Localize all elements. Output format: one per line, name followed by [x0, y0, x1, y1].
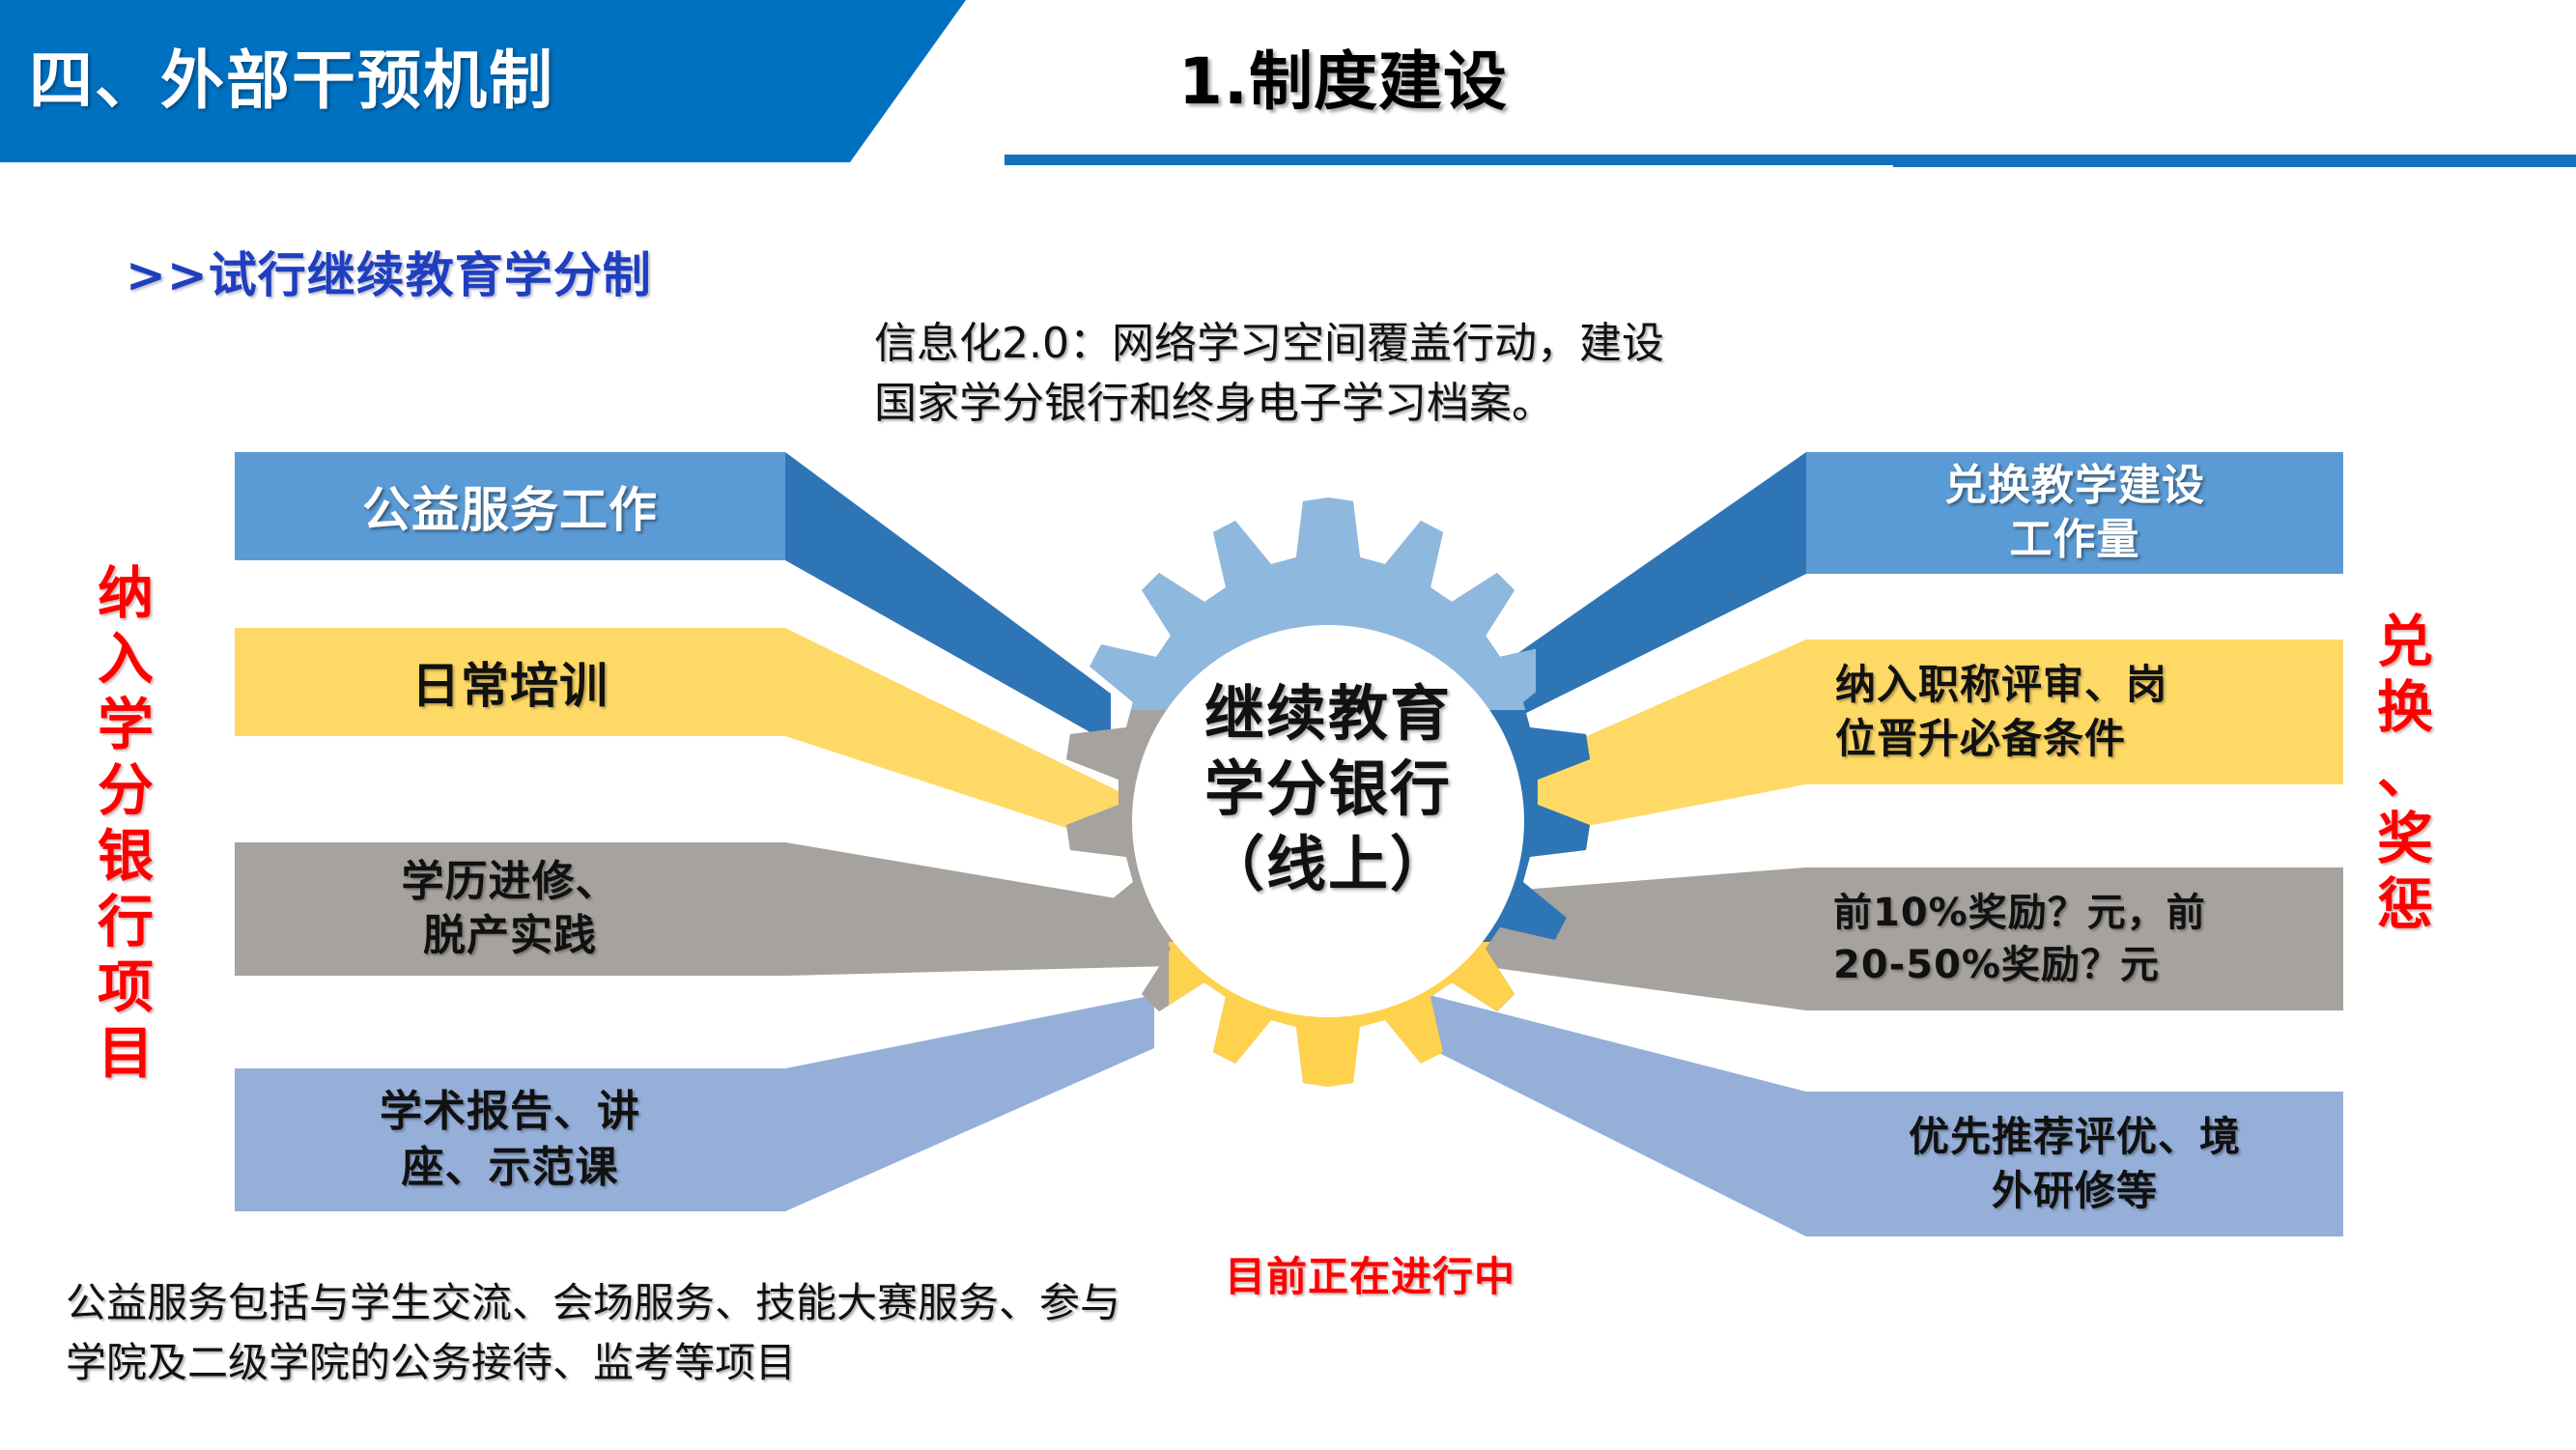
vertical-label-char-4: 银	[89, 823, 162, 889]
section-subtitle: >>试行继续教育学分制	[126, 237, 652, 306]
right-bar-priority-recommend[interactable]: 优先推荐评优、境 外研修等	[1806, 1092, 2343, 1237]
right-bar-teaching-workload[interactable]: 兑换教学建设 工作量	[1806, 452, 2343, 574]
header-underline-extension	[1893, 158, 2576, 167]
left-bar-label-4: 学术报告、讲 座、示范课	[235, 1084, 785, 1196]
page-title: 四、外部干预机制	[29, 33, 898, 129]
right-bar-cash-reward[interactable]: 前10%奖励？元，前 20-50%奖励？元	[1806, 867, 2343, 1010]
vertical-label-char-4: 惩	[2368, 871, 2442, 937]
vertical-label-char-7: 目	[89, 1020, 162, 1086]
right-bar-label-2: 纳入职称评审、岗 位晋升必备条件	[1835, 658, 2343, 766]
page-subtitle: 1.制度建设	[1178, 29, 2337, 135]
vertical-label-char-2: 、	[2368, 740, 2442, 806]
left-bar-label-2: 日常培训	[235, 647, 785, 717]
left-bar-label-1: 公益服务工作	[235, 471, 785, 541]
status-badge: 目前正在进行中	[1225, 1244, 1515, 1303]
gear-center-label: 继续教育 学分银行 （线上）	[1135, 676, 1521, 902]
right-bar-label-3: 前10%奖励？元，前 20-50%奖励？元	[1833, 887, 2343, 991]
right-bar-label-4: 优先推荐评优、境 外研修等	[1806, 1110, 2343, 1218]
slide-canvas: 四、外部干预机制 1.制度建设 >>试行继续教育学分制 信息化2.0：网络学习空…	[0, 0, 2576, 1450]
left-bar-label-3: 学历进修、 脱产实践	[235, 855, 785, 963]
vertical-label-char-1: 换	[2368, 674, 2442, 740]
right-vertical-label: 兑换、奖惩	[2368, 609, 2442, 937]
vertical-label-char-0: 兑	[2368, 609, 2442, 674]
left-bar-academic-report[interactable]: 学术报告、讲 座、示范课	[235, 1068, 785, 1211]
vertical-label-char-2: 学	[89, 692, 162, 757]
left-bar-public-service[interactable]: 公益服务工作	[235, 452, 785, 560]
vertical-label-char-1: 入	[89, 626, 162, 692]
vertical-label-char-3: 分	[89, 757, 162, 823]
vertical-label-char-5: 行	[89, 889, 162, 954]
vertical-label-char-6: 项	[89, 954, 162, 1020]
left-vertical-label: 纳入学分银行项目	[89, 560, 162, 1086]
vertical-label-char-3: 奖	[2368, 806, 2442, 871]
left-bar-degree-study[interactable]: 学历进修、 脱产实践	[235, 842, 785, 976]
policy-note: 信息化2.0：网络学习空间覆盖行动，建设国家学分银行和终身电子学习档案。	[874, 314, 1676, 434]
left-bar-daily-training[interactable]: 日常培训	[235, 628, 785, 736]
right-bar-label-1: 兑换教学建设 工作量	[1806, 459, 2343, 567]
right-bar-title-review[interactable]: 纳入职称评审、岗 位晋升必备条件	[1806, 640, 2343, 784]
footnote-text: 公益服务包括与学生交流、会场服务、技能大赛服务、参与学院及二级学院的公务接待、监…	[66, 1273, 1157, 1393]
vertical-label-char-0: 纳	[89, 560, 162, 626]
